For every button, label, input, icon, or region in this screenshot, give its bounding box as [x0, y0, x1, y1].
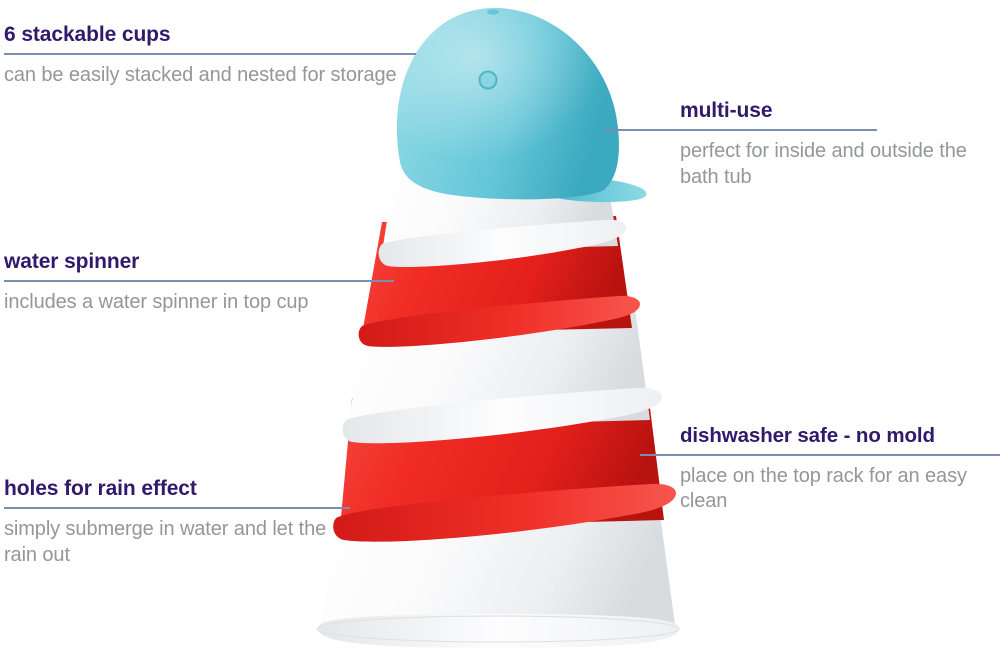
product-feature-infographic: 6 stackable cups can be easily stacked a… [0, 0, 1000, 672]
callout-stackable-cups: 6 stackable cups can be easily stacked a… [4, 24, 416, 89]
callout-body: can be easily stacked and nested for sto… [4, 63, 416, 89]
callout-water-spinner: water spinner includes a water spinner i… [4, 251, 394, 316]
cup-5-red [333, 392, 676, 542]
cup-6-white-base [317, 470, 679, 648]
callout-body: simply submerge in water and let the rai… [4, 517, 350, 568]
blue-spout [548, 177, 646, 202]
vent-hole-icon [487, 9, 499, 14]
callout-body: perfect for inside and outside the bath … [680, 139, 1000, 190]
callout-heading: dishwasher safe - no mold [680, 425, 1000, 447]
callout-heading: holes for rain effect [4, 478, 350, 500]
callout-body: place on the top rack for an easy clean [680, 464, 1000, 515]
cup-1-blue-dome [397, 8, 647, 202]
water-spinner-hole-icon [480, 72, 497, 89]
callout-heading: water spinner [4, 251, 394, 273]
callout-heading: multi-use [680, 100, 1000, 122]
callout-rule [605, 129, 877, 131]
callout-multi-use: multi-use perfect for inside and outside… [680, 100, 1000, 190]
callout-rule [4, 507, 350, 509]
cup-2-white [379, 134, 626, 267]
callout-dishwasher-safe: dishwasher safe - no mold place on the t… [680, 425, 1000, 515]
callout-body: includes a water spinner in top cup [4, 290, 394, 316]
callout-heading: 6 stackable cups [4, 24, 416, 46]
cup-4-white [343, 300, 662, 443]
callout-rule [4, 280, 394, 282]
cup-3-red [359, 216, 640, 347]
callout-holes-for-rain-effect: holes for rain effect simply submerge in… [4, 478, 350, 568]
callout-rule [4, 53, 416, 55]
callout-rule [640, 454, 1000, 456]
